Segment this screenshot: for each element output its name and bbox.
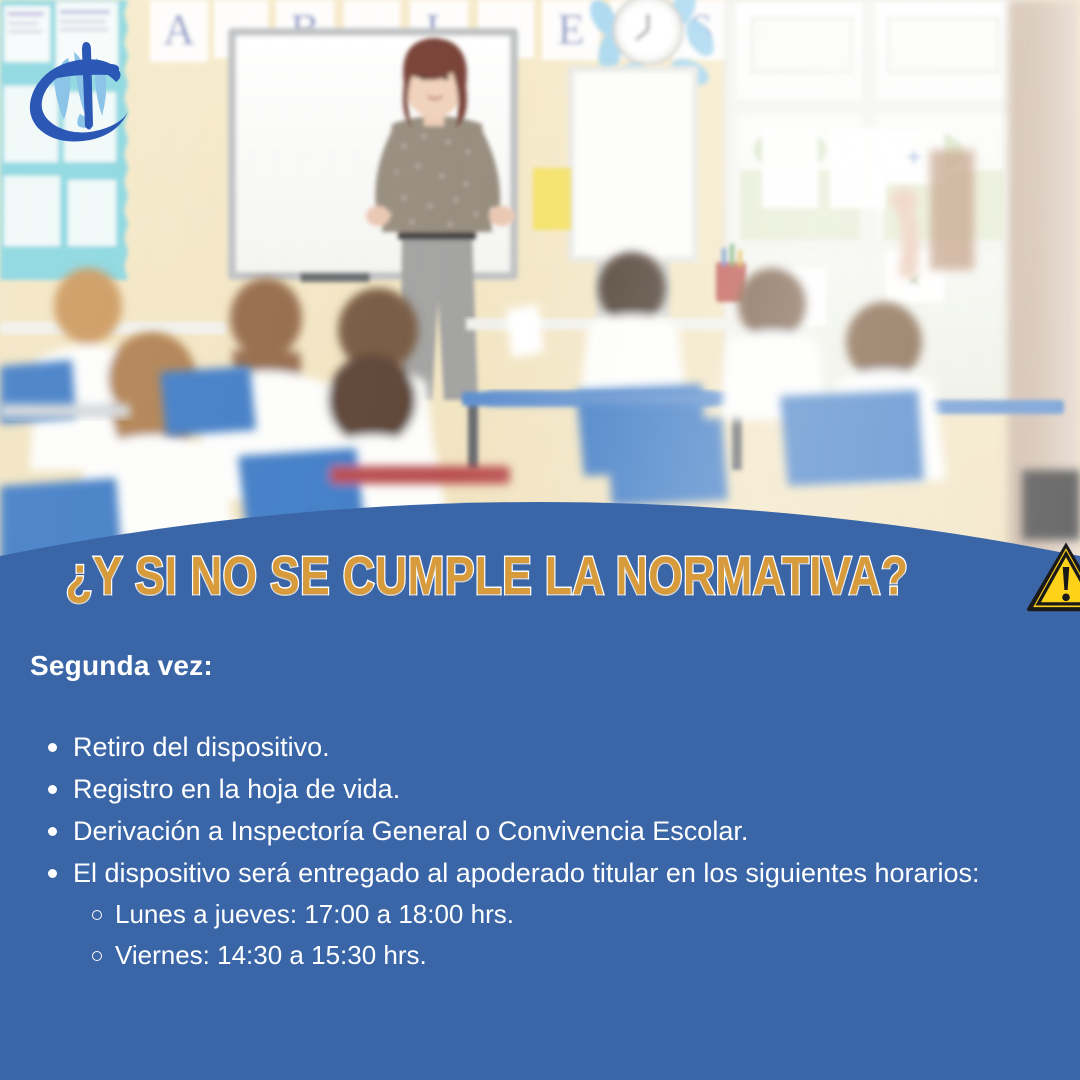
- hollow-bullet-icon: [92, 951, 102, 961]
- panel-content: ¿Y SI NO SE CUMPLE LA NORMATIVA? Segunda…: [0, 0, 1080, 1080]
- list-item: Registro en la hoja de vida.: [30, 768, 1040, 810]
- bullet-dot-icon: [48, 827, 57, 836]
- sub-list-item-label: Viernes: 14:30 a 15:30 hrs.: [115, 940, 427, 970]
- bullet-dot-icon: [48, 743, 57, 752]
- page-title: ¿Y SI NO SE CUMPLE LA NORMATIVA?: [66, 545, 909, 607]
- list-item: Derivación a Inspectoría General o Convi…: [30, 810, 1040, 852]
- hollow-bullet-icon: [92, 910, 102, 920]
- section-subheading: Segunda vez:: [30, 650, 213, 682]
- list-item-label: Derivación a Inspectoría General o Convi…: [73, 816, 748, 846]
- warning-triangle-icon: [1025, 539, 1080, 613]
- school-logo: [20, 28, 140, 148]
- list-item-label: Registro en la hoja de vida.: [73, 774, 400, 804]
- list-item-label: El dispositivo será entregado al apodera…: [73, 858, 980, 888]
- list-item: Retiro del dispositivo.: [30, 726, 1040, 768]
- sub-list-item: Lunes a jueves: 17:00 a 18:00 hrs.: [30, 894, 1040, 935]
- sub-list-item: Viernes: 14:30 a 15:30 hrs.: [30, 935, 1040, 976]
- rules-list: Retiro del dispositivo. Registro en la h…: [30, 726, 1040, 976]
- list-item: El dispositivo será entregado al apodera…: [30, 852, 1040, 894]
- bullet-dot-icon: [48, 869, 57, 878]
- sub-list-item-label: Lunes a jueves: 17:00 a 18:00 hrs.: [115, 899, 514, 929]
- schedule-sublist: Lunes a jueves: 17:00 a 18:00 hrs. Viern…: [30, 894, 1040, 976]
- bullet-dot-icon: [48, 785, 57, 794]
- headline-row: ¿Y SI NO SE CUMPLE LA NORMATIVA?: [0, 536, 1080, 616]
- list-item-label: Retiro del dispositivo.: [73, 732, 330, 762]
